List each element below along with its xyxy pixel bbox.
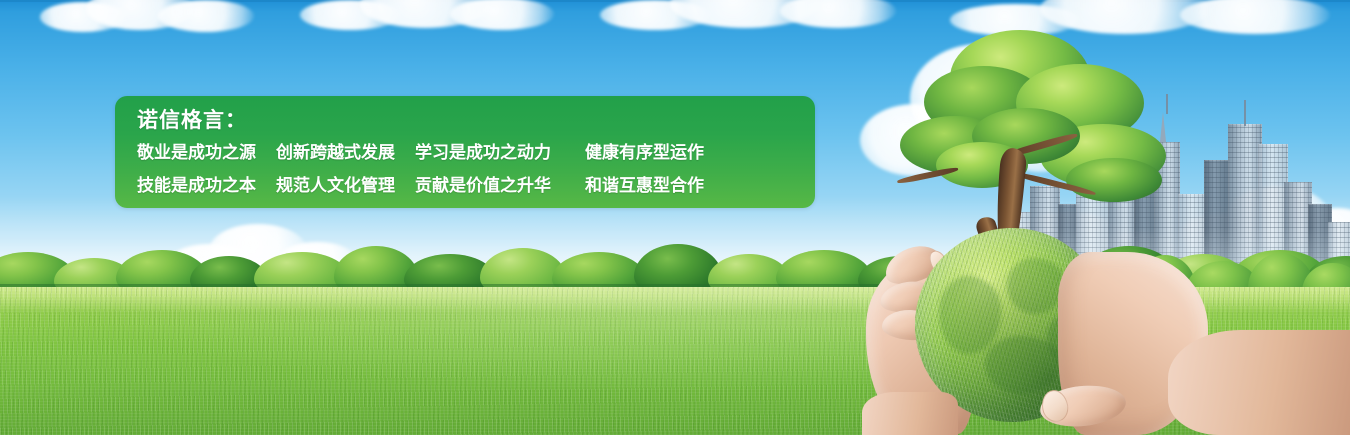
- motto-item: 创新跨越式发展: [276, 144, 395, 161]
- motto-item: 贡献是价值之升华: [415, 177, 551, 194]
- motto-item: 技能是成功之本: [137, 177, 256, 194]
- panel-title: 诺信格言：: [137, 110, 815, 131]
- motto-item: 学习是成功之动力: [415, 144, 551, 161]
- motto-row: 技能是成功之本规范人文化管理贡献是价值之升华和谐互惠型合作: [137, 177, 815, 194]
- left-wrist: [862, 392, 958, 435]
- right-wrist: [1168, 330, 1350, 435]
- motto-item: 敬业是成功之源: [137, 144, 256, 161]
- motto-row: 敬业是成功之源创新跨越式发展学习是成功之动力健康有序型运作: [137, 144, 815, 161]
- sky-top-edge: [0, 0, 1350, 2]
- eco-banner: 诺信格言： 敬业是成功之源创新跨越式发展学习是成功之动力健康有序型运作 技能是成…: [0, 0, 1350, 435]
- motto-item: 健康有序型运作: [585, 144, 704, 161]
- motto-panel: 诺信格言： 敬业是成功之源创新跨越式发展学习是成功之动力健康有序型运作 技能是成…: [115, 96, 815, 208]
- motto-item: 和谐互惠型合作: [585, 177, 704, 194]
- motto-item: 规范人文化管理: [276, 177, 395, 194]
